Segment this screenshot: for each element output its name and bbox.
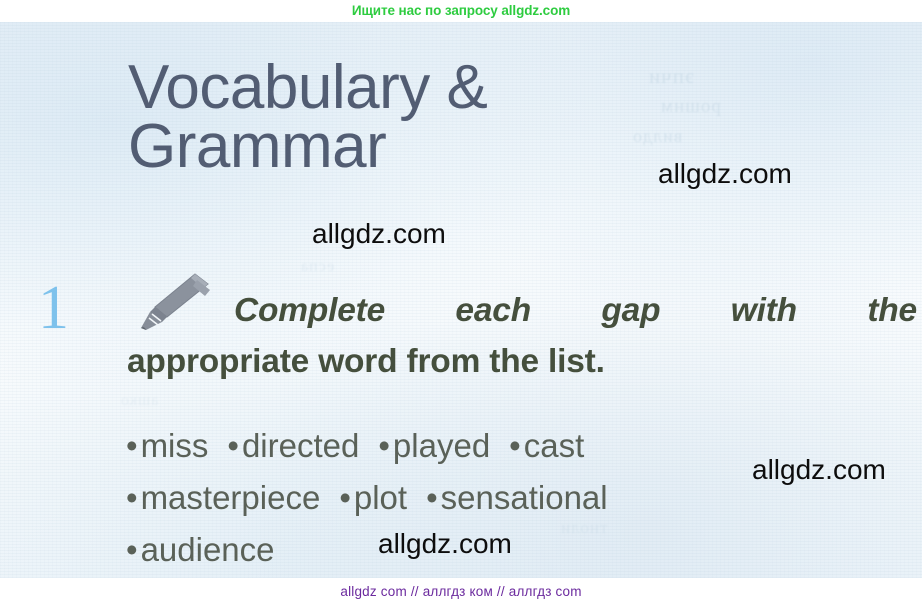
section-title: Vocabulary & Grammar (128, 59, 648, 177)
word-bank-item: directed (242, 427, 359, 464)
exercise-instruction: Complete each gap with the appropriate w… (127, 286, 917, 388)
bullet-icon: • (126, 531, 141, 568)
word-bank-item: played (393, 427, 490, 464)
scanned-book-page: эпчи рошнм вилдо еспа тноли ашко Vocabul… (0, 22, 922, 578)
instruction-word: gap (601, 286, 660, 337)
bullet-icon: • (227, 427, 242, 464)
promo-banner-bottom: allgdz com // аллгдз ком // аллгдз com (0, 578, 922, 605)
bleed-through-text: еспа (300, 258, 334, 276)
instruction-word: Complete (234, 286, 385, 337)
exercise-number: 1 (38, 277, 69, 339)
bullet-icon: • (126, 479, 141, 516)
bleed-through-text: ашко (120, 392, 158, 410)
bullet-icon: • (426, 479, 441, 516)
watermark-allgdz: allgdz.com (658, 158, 792, 190)
word-bank-row: •miss•directed•played•cast (126, 420, 826, 472)
promo-banner-bottom-text: allgdz com // аллгдз ком // аллгдз com (340, 578, 581, 605)
bullet-icon: • (339, 479, 354, 516)
word-bank-item: plot (354, 479, 407, 516)
word-bank-row: •masterpiece•plot•sensational (126, 472, 826, 524)
bullet-icon: • (509, 427, 524, 464)
exercise-instruction-line-1: Complete each gap with the (127, 286, 917, 337)
screenshot-root: Ищите нас по запросу allgdz.com эпчи рош… (0, 0, 922, 605)
instruction-word: each (455, 286, 531, 337)
bleed-through-text: эпчи (648, 64, 694, 89)
word-bank-item: audience (141, 531, 275, 568)
bullet-icon: • (126, 427, 141, 464)
promo-banner-top-text: Ищите нас по запросу allgdz.com (352, 0, 570, 22)
word-bank-item: masterpiece (141, 479, 321, 516)
promo-banner-top: Ищите нас по запросу allgdz.com (0, 0, 922, 22)
watermark-allgdz: allgdz.com (752, 454, 886, 486)
exercise-instruction-line-2: appropriate word from the list. (127, 337, 917, 388)
instruction-word: with (731, 286, 797, 337)
word-bank-item: cast (524, 427, 585, 464)
watermark-allgdz: allgdz.com (378, 528, 512, 560)
word-bank-item: miss (141, 427, 209, 464)
bleed-through-text: рошнм (660, 96, 721, 118)
watermark-allgdz: allgdz.com (312, 218, 446, 250)
section-title-line-2: Grammar (128, 118, 648, 177)
word-bank-item: sensational (441, 479, 608, 516)
bullet-icon: • (378, 427, 393, 464)
instruction-word: the (867, 286, 917, 337)
